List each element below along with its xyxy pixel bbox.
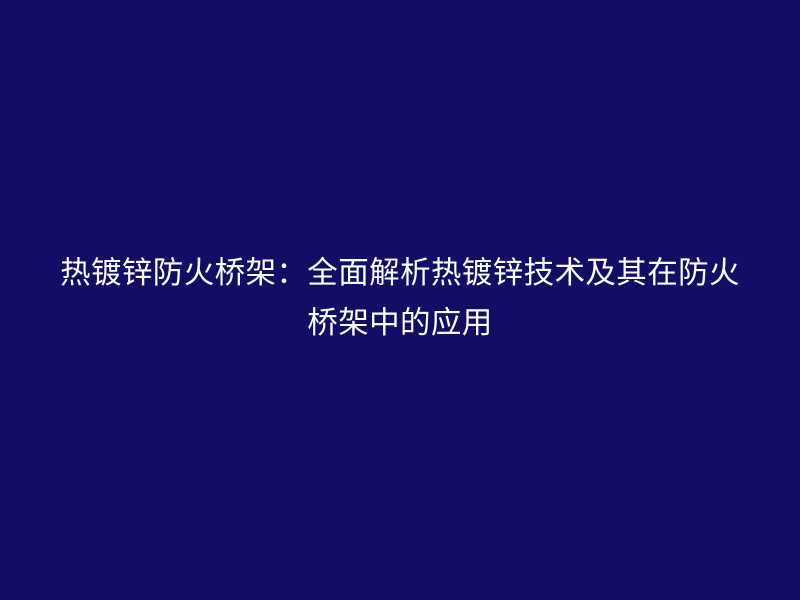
- page-title: 热镀锌防火桥架：全面解析热镀锌技术及其在防火 桥架中的应用: [50, 249, 750, 349]
- title-line-1: 热镀锌防火桥架：全面解析热镀锌技术及其在防火: [50, 249, 750, 299]
- title-line-2: 桥架中的应用: [50, 299, 750, 349]
- slide-canvas: 热镀锌防火桥架：全面解析热镀锌技术及其在防火 桥架中的应用: [0, 0, 800, 600]
